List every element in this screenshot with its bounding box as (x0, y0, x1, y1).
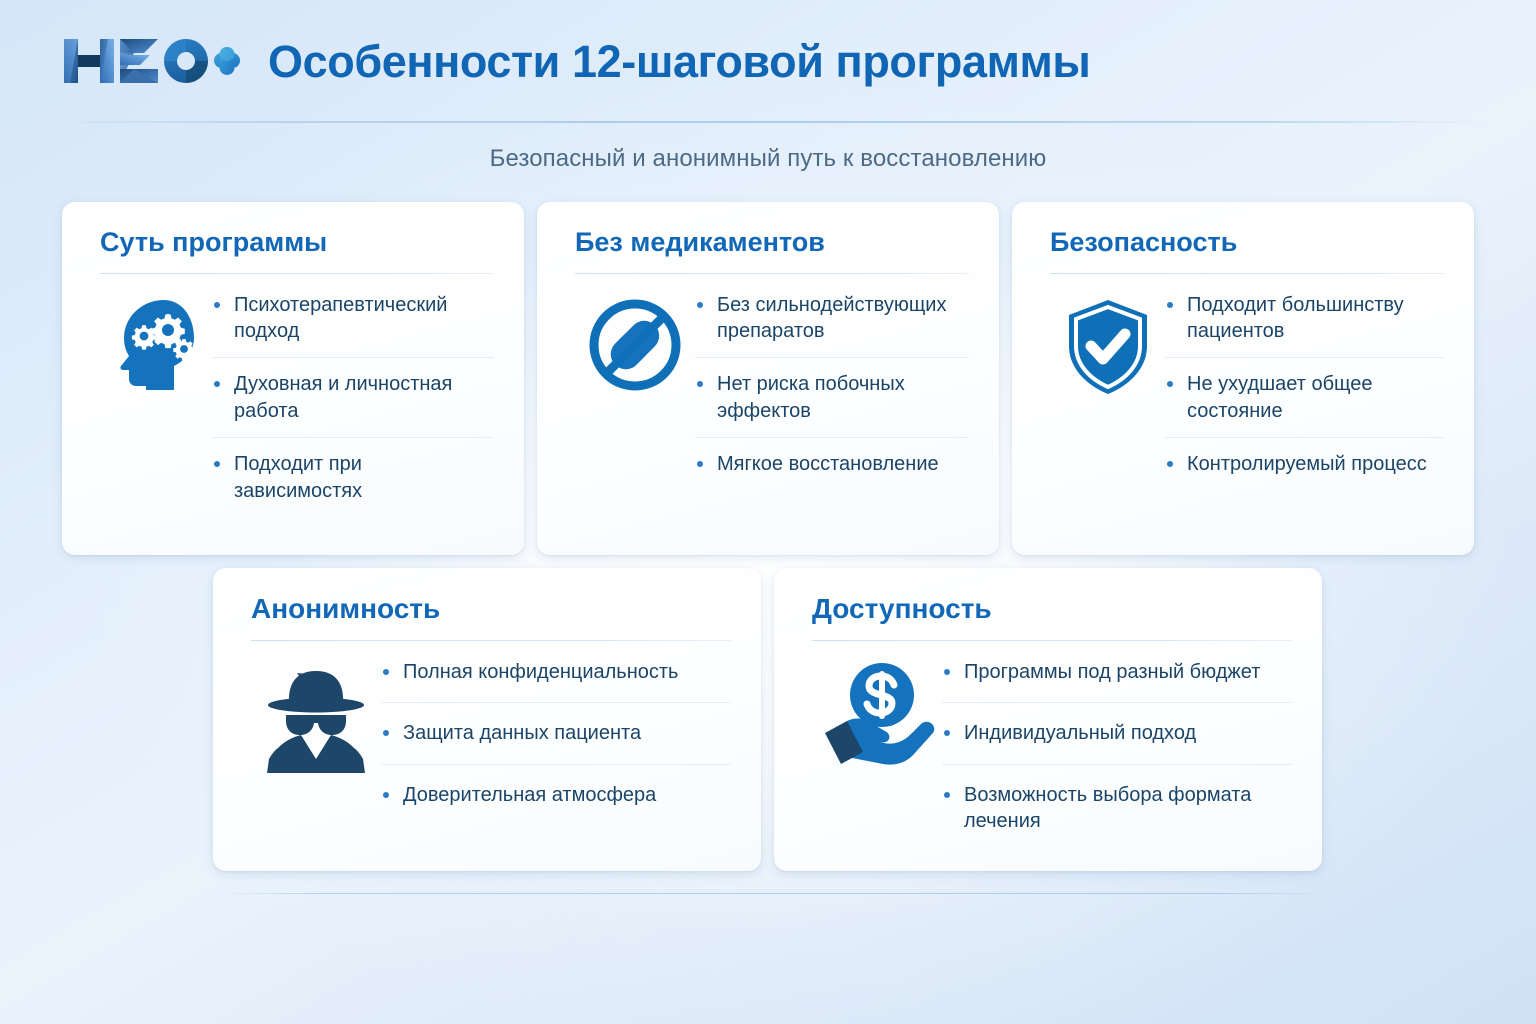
list-item: Программы под разный бюджет (942, 659, 1292, 703)
bullet-list: Полная конфиденциальность Защита данных … (381, 659, 731, 842)
bullet-list: Подходит большинству пациентов Не ухудша… (1165, 292, 1444, 478)
list-item: Контролируемый процесс (1165, 451, 1444, 477)
footer-divider (216, 893, 1330, 894)
page-header: Особенности 12-шаговой программы (0, 0, 1536, 122)
list-item: Подходит большинству пациентов (1165, 292, 1444, 359)
card-title: Без медикаментов (575, 228, 969, 258)
card-title: Доступность (812, 594, 1292, 625)
card-title: Анонимность (251, 594, 731, 625)
list-item: Подходит при зависимостях (212, 451, 494, 504)
card-title: Безопасность (1050, 228, 1444, 258)
card-dostupnost[interactable]: Доступность Программы под разный бюджет … (774, 568, 1322, 871)
list-item: Защита данных пациента (381, 720, 731, 764)
list-item: Доверительная атмосфера (381, 782, 731, 825)
card-title-rule (812, 640, 1292, 641)
card-title-rule (100, 273, 494, 274)
neo-plus-logo-icon (62, 31, 240, 91)
bullet-list: Психотерапевтический подход Духовная и л… (212, 292, 494, 504)
shield-check-icon (1050, 292, 1165, 396)
list-item: Мягкое восстановление (695, 451, 969, 477)
card-title-rule (1050, 273, 1444, 274)
hand-holding-coin-icon (812, 659, 942, 771)
list-item: Не ухудшает общее состояние (1165, 371, 1444, 438)
card-title-rule (575, 273, 969, 274)
list-item: Полная конфиденциальность (381, 659, 731, 703)
page-title: Особенности 12-шаговой программы (268, 39, 1090, 84)
head-with-gears-icon (100, 292, 212, 392)
header-divider (48, 121, 1488, 123)
list-item: Психотерапевтический подход (212, 292, 494, 359)
list-item: Без сильнодействующих препаратов (695, 292, 969, 359)
card-bezopasnost[interactable]: Безопасность Подходит большинству пациен… (1012, 202, 1474, 555)
bullet-list: Программы под разный бюджет Индивидуальн… (942, 659, 1292, 869)
card-sut-programmy[interactable]: Суть программы Психотерапевтический подх… (62, 202, 524, 555)
card-anonimnost[interactable]: Анонимность Полная конфиденциальн (213, 568, 761, 871)
card-bez-medikamentov[interactable]: Без медикаментов Без сильнодействующих п… (537, 202, 999, 555)
bullet-list: Без сильнодействующих препаратов Нет рис… (695, 292, 969, 478)
card-title: Суть программы (100, 228, 494, 258)
card-title-rule (251, 640, 731, 641)
list-item: Нет риска побочных эффектов (695, 371, 969, 438)
no-pills-icon (575, 292, 695, 392)
list-item: Индивидуальный подход (942, 720, 1292, 764)
list-item: Духовная и личностная работа (212, 371, 494, 438)
list-item: Возможность выбора формата лечения (942, 782, 1292, 852)
incognito-spy-icon (251, 659, 381, 775)
page-subtitle: Безопасный и анонимный путь к восстановл… (0, 145, 1536, 173)
